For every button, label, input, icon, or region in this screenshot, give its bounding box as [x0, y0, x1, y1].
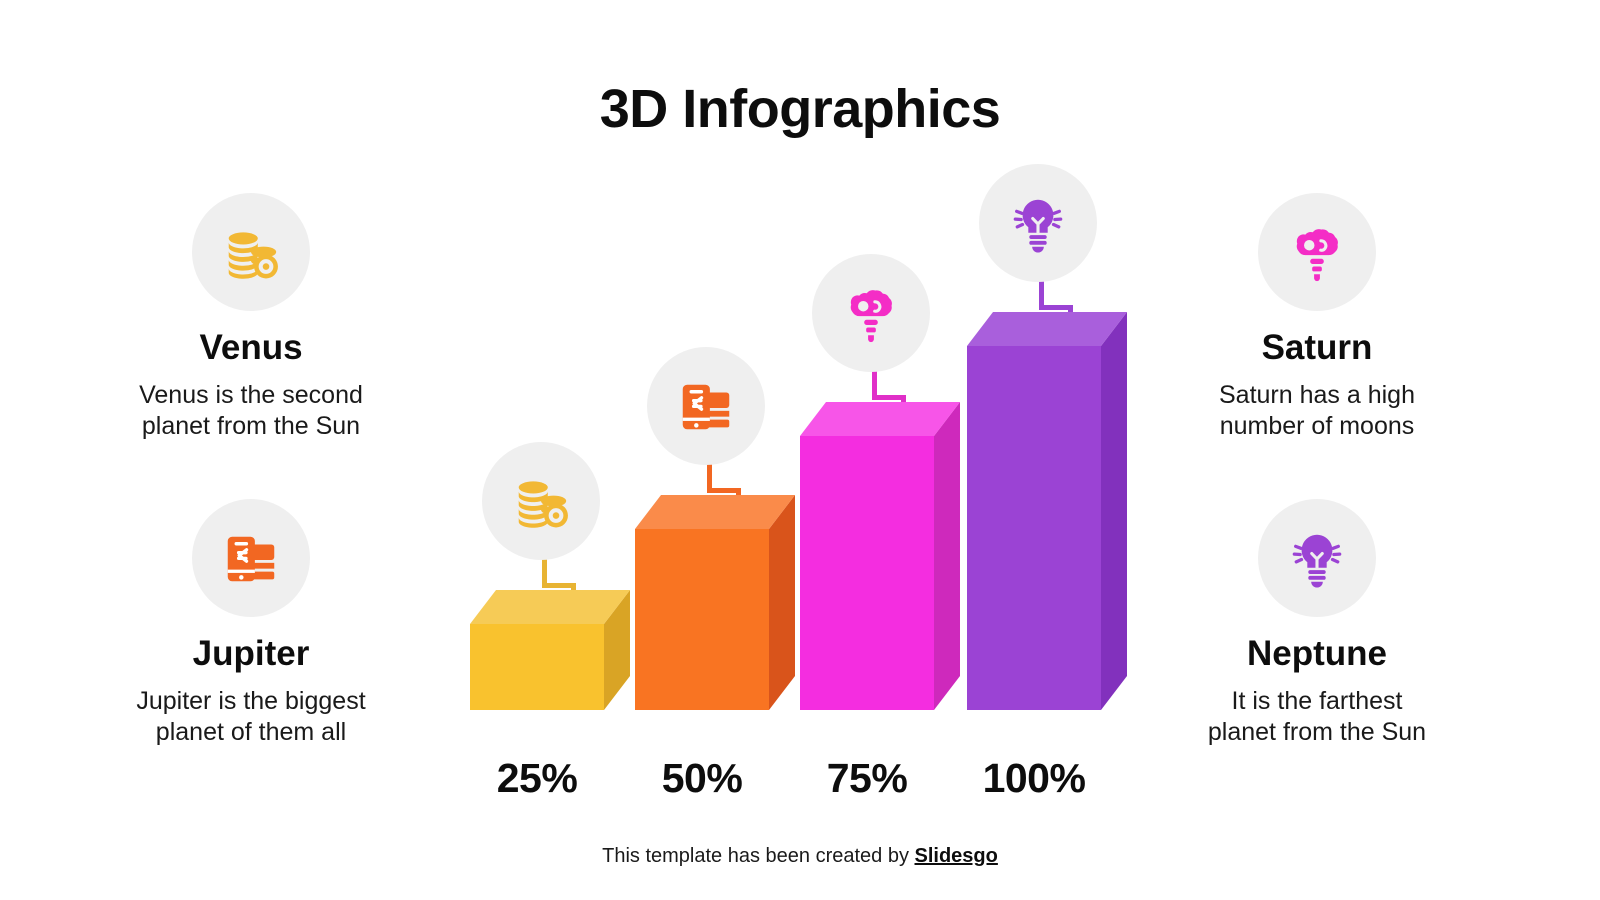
bar-icon-badge-50[interactable]	[647, 347, 765, 465]
bar-icon-badge-75[interactable]	[812, 254, 930, 372]
bar-value-label-75: 75%	[800, 755, 934, 802]
mobile-payment-icon	[220, 527, 282, 589]
bar-icon-badge-25[interactable]	[482, 442, 600, 560]
brain-bulb-icon	[1286, 221, 1348, 283]
info-block-description-line1: Venus is the second	[41, 380, 461, 412]
bar-top-face	[470, 590, 630, 624]
info-block-description-line1: Jupiter is the biggest	[41, 686, 461, 718]
bar-box-100[interactable]	[967, 312, 1127, 710]
bar-front-face	[800, 436, 934, 710]
info-block-description: It is the farthest planet from the Sun	[1107, 686, 1527, 749]
bar-side-face	[769, 495, 795, 710]
info-block-description: Jupiter is the biggest planet of them al…	[41, 686, 461, 749]
info-block-title: Saturn	[1107, 329, 1527, 368]
info-block-title: Venus	[41, 329, 461, 368]
footer-text: This template has been created by	[602, 845, 914, 867]
info-block-description-line2: number of moons	[1107, 411, 1527, 443]
info-block-description-line1: Saturn has a high	[1107, 380, 1527, 412]
bar-value-label-50: 50%	[635, 755, 769, 802]
brain-bulb-icon-badge-saturn	[1258, 193, 1376, 311]
bar-top-face	[800, 402, 960, 436]
bar-icon-badge-100[interactable]	[979, 164, 1097, 282]
info-block-venus: Venus Venus is the second planet from th…	[41, 193, 461, 443]
info-block-description-line1: It is the farthest	[1107, 686, 1527, 718]
info-block-description-line2: planet from the Sun	[41, 411, 461, 443]
lightbulb-icon	[1007, 192, 1069, 254]
info-block-neptune: Neptune It is the farthest planet from t…	[1107, 499, 1527, 749]
info-block-description-line2: planet from the Sun	[1107, 717, 1527, 749]
bar-top-face	[967, 312, 1127, 346]
bar-side-face	[1101, 312, 1127, 710]
bar-chart-3d: 25%	[430, 150, 1170, 850]
info-block-description: Venus is the second planet from the Sun	[41, 380, 461, 443]
lightbulb-icon-badge-neptune	[1258, 499, 1376, 617]
info-block-jupiter: Jupiter Jupiter is the biggest planet of…	[41, 499, 461, 749]
bar-value-label-100: 100%	[959, 755, 1109, 802]
bar-box-50[interactable]	[635, 495, 795, 710]
bar-front-face	[635, 529, 769, 710]
bar-side-face	[934, 402, 960, 710]
footer-credit: This template has been created by Slides…	[0, 845, 1600, 868]
lightbulb-icon	[1286, 527, 1348, 589]
bar-value-label-25: 25%	[470, 755, 604, 802]
bar-box-25[interactable]	[470, 590, 630, 710]
mobile-payment-icon	[675, 375, 737, 437]
bar-column-25[interactable]: 25%	[470, 590, 630, 710]
bar-column-100[interactable]: 100%	[967, 312, 1127, 710]
brain-bulb-icon	[840, 282, 902, 344]
coins-icon-badge-venus	[192, 193, 310, 311]
bar-column-75[interactable]: 75%	[800, 402, 960, 710]
bar-box-75[interactable]	[800, 402, 960, 710]
page-title: 3D Infographics	[0, 78, 1600, 140]
bar-top-face	[635, 495, 795, 529]
bar-front-face	[470, 624, 604, 710]
coins-icon	[220, 221, 282, 283]
coins-icon	[510, 470, 572, 532]
slidesgo-link[interactable]: Slidesgo	[915, 845, 998, 867]
info-block-title: Jupiter	[41, 635, 461, 674]
info-block-description: Saturn has a high number of moons	[1107, 380, 1527, 443]
bar-front-face	[967, 346, 1101, 710]
info-block-title: Neptune	[1107, 635, 1527, 674]
mobile-payment-icon-badge-jupiter	[192, 499, 310, 617]
info-block-description-line2: planet of them all	[41, 717, 461, 749]
info-block-saturn: Saturn Saturn has a high number of moons	[1107, 193, 1527, 443]
bar-column-50[interactable]: 50%	[635, 495, 795, 710]
